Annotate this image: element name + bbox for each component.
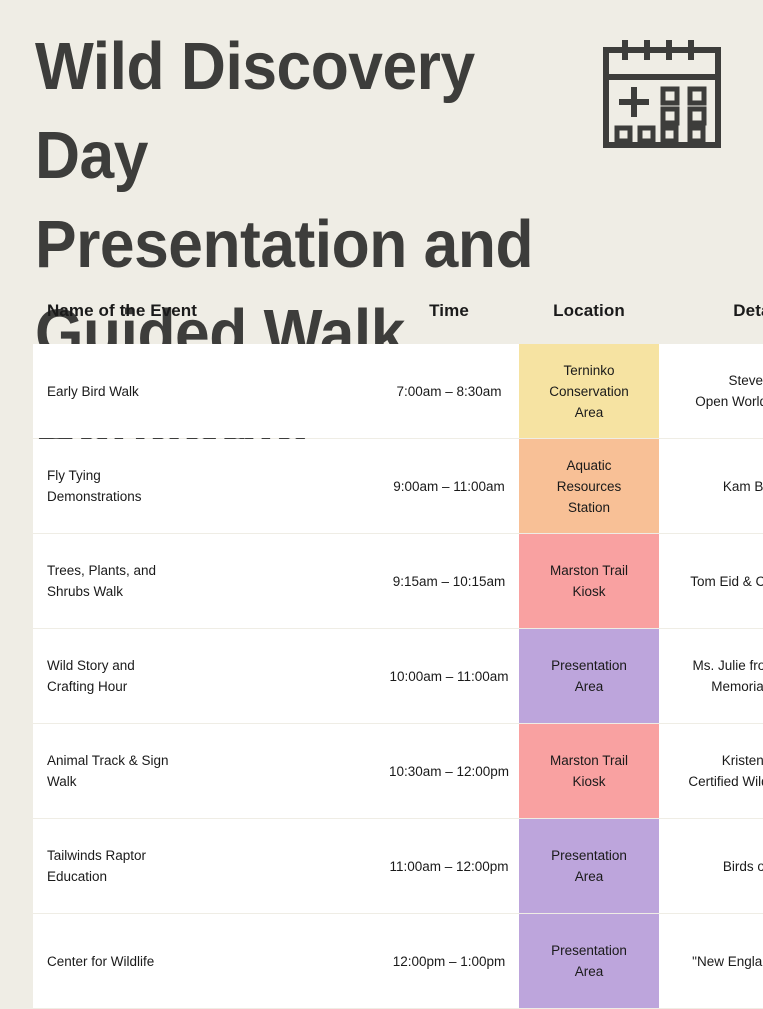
cell-details: "New England Natives" bbox=[659, 914, 763, 1008]
table-row: Animal Track & Sign Walk 10:30am – 12:00… bbox=[33, 724, 763, 818]
column-header-time: Time bbox=[379, 301, 519, 343]
cell-time: 10:30am – 12:00pm bbox=[379, 724, 519, 818]
cell-location: Marston Trail Kiosk bbox=[519, 724, 659, 818]
table-header: Name of the Event Time Location Details bbox=[33, 301, 763, 343]
cell-time: 11:00am – 12:00pm bbox=[379, 819, 519, 913]
cell-event: Animal Track & Sign Walk bbox=[33, 724, 379, 818]
schedule-table-container: Name of the Event Time Location Details … bbox=[33, 300, 724, 1009]
cell-event: Center for Wildlife bbox=[33, 914, 379, 1008]
cell-event: Trees, Plants, and Shrubs Walk bbox=[33, 534, 379, 628]
table-row: Trees, Plants, and Shrubs Walk 9:15am – … bbox=[33, 534, 763, 628]
cell-details: Steve Hale Open World Explorers bbox=[659, 344, 763, 438]
calendar-icon bbox=[601, 38, 723, 150]
cell-event: Early Bird Walk bbox=[33, 344, 379, 438]
cell-time: 7:00am – 8:30am bbox=[379, 344, 519, 438]
cell-event: Fly Tying Demonstrations bbox=[33, 439, 379, 533]
cell-location: Presentation Area bbox=[519, 819, 659, 913]
table-header-row: Name of the Event Time Location Details bbox=[33, 301, 763, 343]
table-row: Tailwinds Raptor Education 11:00am – 12:… bbox=[33, 819, 763, 913]
cell-event: Tailwinds Raptor Education bbox=[33, 819, 379, 913]
cell-location: Aquatic Resources Station bbox=[519, 439, 659, 533]
table-row: Early Bird Walk 7:00am – 8:30am Terninko… bbox=[33, 344, 763, 438]
column-header-event: Name of the Event bbox=[33, 301, 379, 343]
cell-details: Birds of Prey bbox=[659, 819, 763, 913]
cell-time: 10:00am – 11:00am bbox=[379, 629, 519, 723]
table-row: Center for Wildlife 12:00pm – 1:00pm Pre… bbox=[33, 914, 763, 1008]
cell-location: Terninko Conservation Area bbox=[519, 344, 659, 438]
cell-time: 9:00am – 11:00am bbox=[379, 439, 519, 533]
table-row: Wild Story and Crafting Hour 10:00am – 1… bbox=[33, 629, 763, 723]
column-header-details: Details bbox=[659, 301, 763, 343]
schedule-table: Name of the Event Time Location Details … bbox=[33, 300, 763, 1009]
cell-location: Presentation Area bbox=[519, 629, 659, 723]
cell-details: Kristen Lamb Certified Wildlife Tracker bbox=[659, 724, 763, 818]
cell-location: Presentation Area bbox=[519, 914, 659, 1008]
cell-location: Marston Trail Kiosk bbox=[519, 534, 659, 628]
cell-time: 9:15am – 10:15am bbox=[379, 534, 519, 628]
table-body: Early Bird Walk 7:00am – 8:30am Terninko… bbox=[33, 344, 763, 1008]
table-row: Fly Tying Demonstrations 9:00am – 11:00a… bbox=[33, 439, 763, 533]
cell-event: Wild Story and Crafting Hour bbox=[33, 629, 379, 723]
cell-time: 12:00pm – 1:00pm bbox=[379, 914, 519, 1008]
cell-details: Tom Eid & Cheryl Smith bbox=[659, 534, 763, 628]
poster-header: Wild Discovery Day Presentation and Guid… bbox=[0, 0, 763, 300]
cell-details: Ms. Julie from Blaisdell Memorial Librar… bbox=[659, 629, 763, 723]
column-header-location: Location bbox=[519, 301, 659, 343]
cell-details: Kam Bounds bbox=[659, 439, 763, 533]
